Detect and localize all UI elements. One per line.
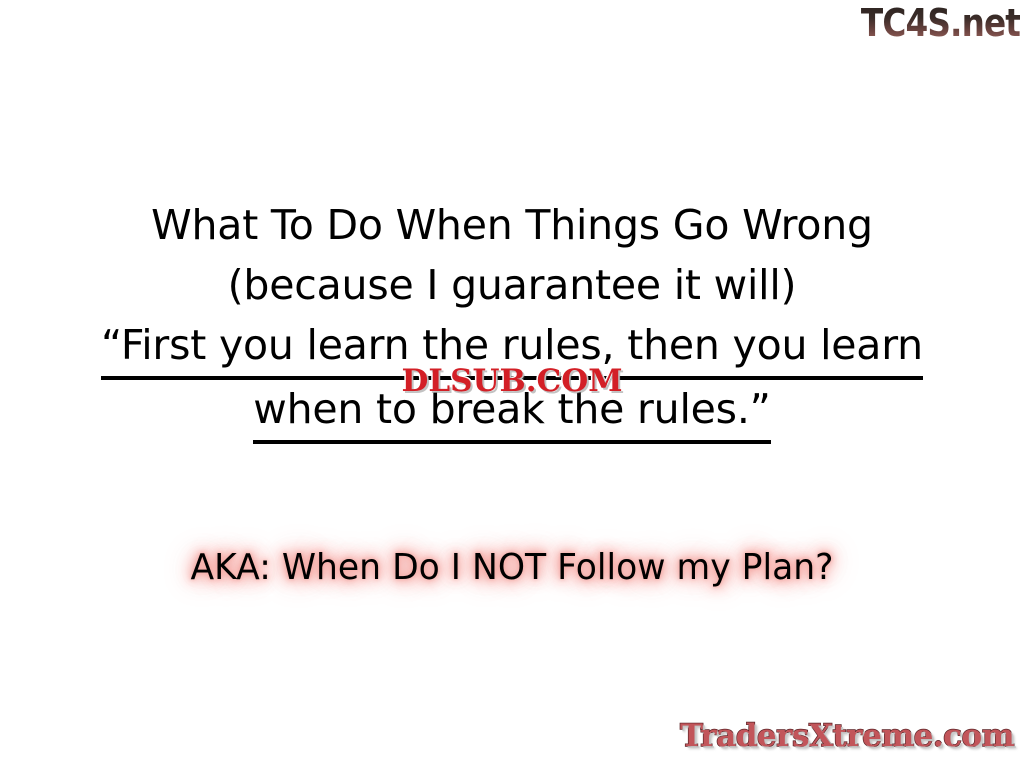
body-line-3-text: “First you learn the rules, then you lea… (101, 316, 923, 380)
callout-text: AKA: When Do I NOT Follow my Plan? (20, 545, 1003, 591)
body-line-4-text: when to break the rules.” (253, 380, 770, 444)
body-line-3: “First you learn the rules, then you lea… (0, 316, 1024, 380)
presentation-slide: TC4S.net What To Do When Things Go Wrong… (0, 0, 1024, 768)
body-line-1: What To Do When Things Go Wrong (0, 196, 1024, 256)
body-line-2: (because I guarantee it will) (0, 256, 1024, 316)
slide-body-text: What To Do When Things Go Wrong (because… (0, 196, 1024, 444)
body-line-2-text: (because I guarantee it will) (228, 256, 797, 316)
body-line-4: when to break the rules.” (0, 380, 1024, 444)
tradersxtreme-watermark: TradersXtreme.com (680, 718, 1014, 754)
tc4s-watermark: TC4S.net (861, 2, 1020, 44)
body-line-1-text: What To Do When Things Go Wrong (151, 196, 873, 256)
